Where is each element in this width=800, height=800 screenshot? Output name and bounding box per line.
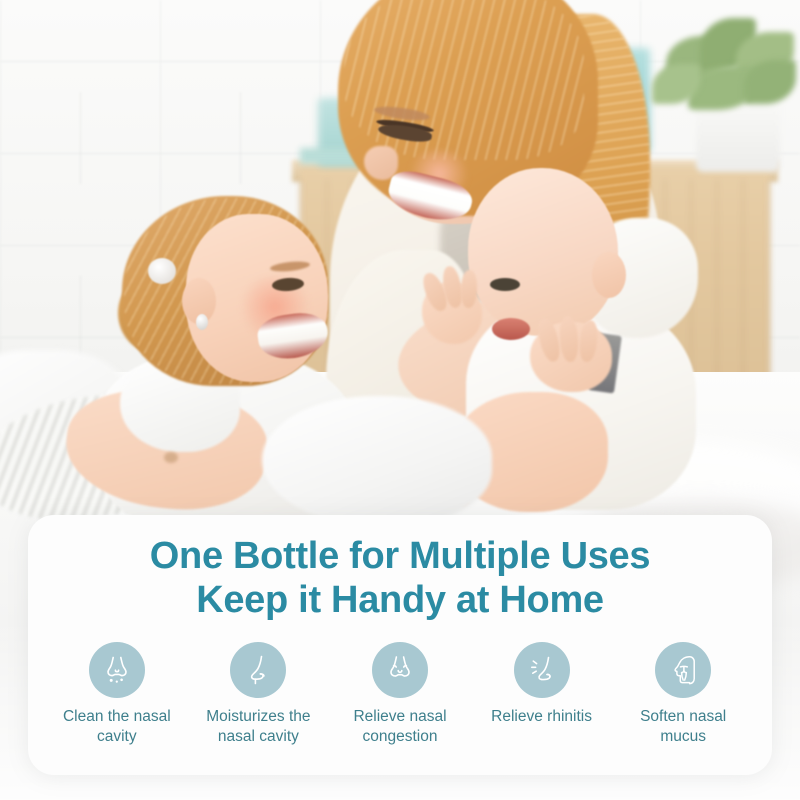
feature-label: Relieve nasal congestion	[336, 707, 464, 747]
product-feature-banner: One Bottle for Multiple Uses Keep it Han…	[0, 0, 800, 800]
feature-item-soften-nasal-mucus[interactable]: Soften nasal mucus	[612, 642, 754, 747]
feature-item-moisturizes-nasal-cavity[interactable]: Moisturizes the nasal cavity	[188, 642, 330, 747]
center-pillow	[262, 396, 492, 526]
baby-ear	[592, 252, 626, 298]
feature-label: Relieve rhinitis	[491, 707, 592, 727]
baby-eye	[490, 278, 520, 291]
feature-card: One Bottle for Multiple Uses Keep it Han…	[28, 515, 772, 775]
girl-hair-tie	[148, 258, 176, 284]
feature-list: Clean the nasal cavity Moisturizes the n…	[28, 622, 772, 747]
girl-arm-mark	[164, 452, 178, 463]
headline-line-1: One Bottle for Multiple Uses	[28, 535, 772, 579]
nose-profile-moisture-icon	[230, 642, 286, 698]
feature-label: Clean the nasal cavity	[53, 707, 181, 747]
feature-item-relieve-nasal-congestion[interactable]: Relieve nasal congestion	[329, 642, 471, 747]
feature-item-clean-nasal-cavity[interactable]: Clean the nasal cavity	[46, 642, 188, 747]
mother-hair-strands-top	[344, 0, 584, 160]
page-title: One Bottle for Multiple Uses Keep it Han…	[28, 515, 772, 622]
head-profile-airway-icon	[655, 642, 711, 698]
nose-profile-sneeze-icon	[514, 642, 570, 698]
feature-label: Soften nasal mucus	[619, 707, 747, 747]
nose-front-with-droplets-icon	[89, 642, 145, 698]
feature-label: Moisturizes the nasal cavity	[194, 707, 322, 747]
headline-line-2: Keep it Handy at Home	[28, 579, 772, 623]
baby-head	[468, 168, 618, 336]
baby-mouth	[492, 318, 530, 340]
feature-item-relieve-rhinitis[interactable]: Relieve rhinitis	[471, 642, 613, 727]
girl-earring	[196, 314, 208, 330]
nose-front-congestion-icon	[372, 642, 428, 698]
